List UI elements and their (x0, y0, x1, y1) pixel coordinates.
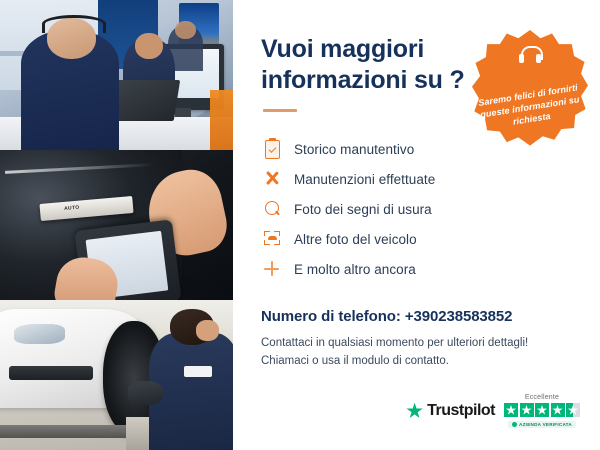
list-item: Altre foto del veicolo (261, 224, 576, 254)
star-box (504, 403, 518, 417)
list-item: E molto altro ancora (261, 254, 576, 284)
background-agent-2-head (175, 21, 196, 39)
mechanic-glove (128, 381, 163, 405)
list-item-label: Foto dei segni di usura (294, 202, 432, 217)
star-box (535, 403, 549, 417)
clipboard-check-icon (261, 139, 285, 159)
list-item: Foto dei segni di usura (261, 194, 576, 224)
contact-subtext: Contattaci in qualsiasi momento per ulte… (261, 334, 576, 371)
magnifier-icon (261, 199, 285, 219)
vehicle-lift (0, 425, 135, 439)
title-underline-rule (263, 109, 297, 112)
star-box-half (566, 403, 580, 417)
orange-object (210, 90, 233, 150)
page-title: Vuoi maggiori informazioni su ? (261, 34, 476, 95)
car-headlight (14, 324, 65, 344)
trustpilot-logo: Trustpilot (406, 402, 495, 420)
verified-check-icon (512, 422, 517, 427)
feature-list: Storico manutentivo Manutenzioni effettu… (261, 134, 576, 284)
call-center-agents-photo (0, 0, 233, 150)
mechanic-face (196, 320, 219, 341)
list-item-label: Manutenzioni effettuate (294, 172, 435, 187)
info-on-request-badge: Saremo felici di fornirti queste informa… (472, 30, 588, 148)
mechanic-wheel-photo (0, 300, 233, 450)
headset-earcup-right (536, 54, 541, 63)
verified-badge: AZIENDA VERIFICATA (508, 421, 576, 428)
strip-label-a: AUTO (64, 204, 80, 211)
contact-subtext-line-2: Chiamaci o usa il modulo di contatto. (261, 352, 576, 370)
trustpilot-star-icon (406, 403, 423, 420)
trustpilot-rating: Eccellente AZIENDA VERIFICATA (504, 394, 580, 428)
headset-worn-icon (42, 15, 106, 33)
trustpilot-widget[interactable]: Trustpilot Eccellente AZIENDA VERIFICATA (406, 394, 580, 428)
photo-column: AUTO (0, 0, 233, 450)
list-item: Manutenzioni effettuate (261, 164, 576, 194)
vehicle-inspection-photo: AUTO (0, 150, 233, 300)
list-item-label: Storico manutentivo (294, 142, 414, 157)
rating-stars (504, 403, 580, 417)
promo-banner: AUTO Vuoi maggiori informazioni su ? (0, 0, 600, 450)
headset-icon (519, 46, 541, 66)
rating-label: Eccellente (525, 394, 559, 401)
crossed-tools-icon (261, 169, 285, 189)
phone-number-line[interactable]: Numero di telefono: +390238583852 (261, 308, 576, 325)
verified-label: AZIENDA VERIFICATA (519, 422, 572, 427)
content-panel: Vuoi maggiori informazioni su ? Saremo f… (233, 0, 600, 450)
car-grille (9, 366, 93, 380)
contact-subtext-line-1: Contattaci in qualsiasi momento per ulte… (261, 334, 576, 352)
star-box (551, 403, 565, 417)
plus-icon (261, 259, 285, 279)
star-box (520, 403, 534, 417)
uniform-patch (184, 366, 212, 377)
car-frame-icon (261, 229, 285, 249)
background-agent-1-head (135, 33, 163, 59)
headset-earcup-left (519, 54, 524, 63)
list-item-label: Altre foto del veicolo (294, 232, 417, 247)
list-item-label: E molto altro ancora (294, 262, 416, 277)
trustpilot-wordmark: Trustpilot (427, 402, 495, 420)
